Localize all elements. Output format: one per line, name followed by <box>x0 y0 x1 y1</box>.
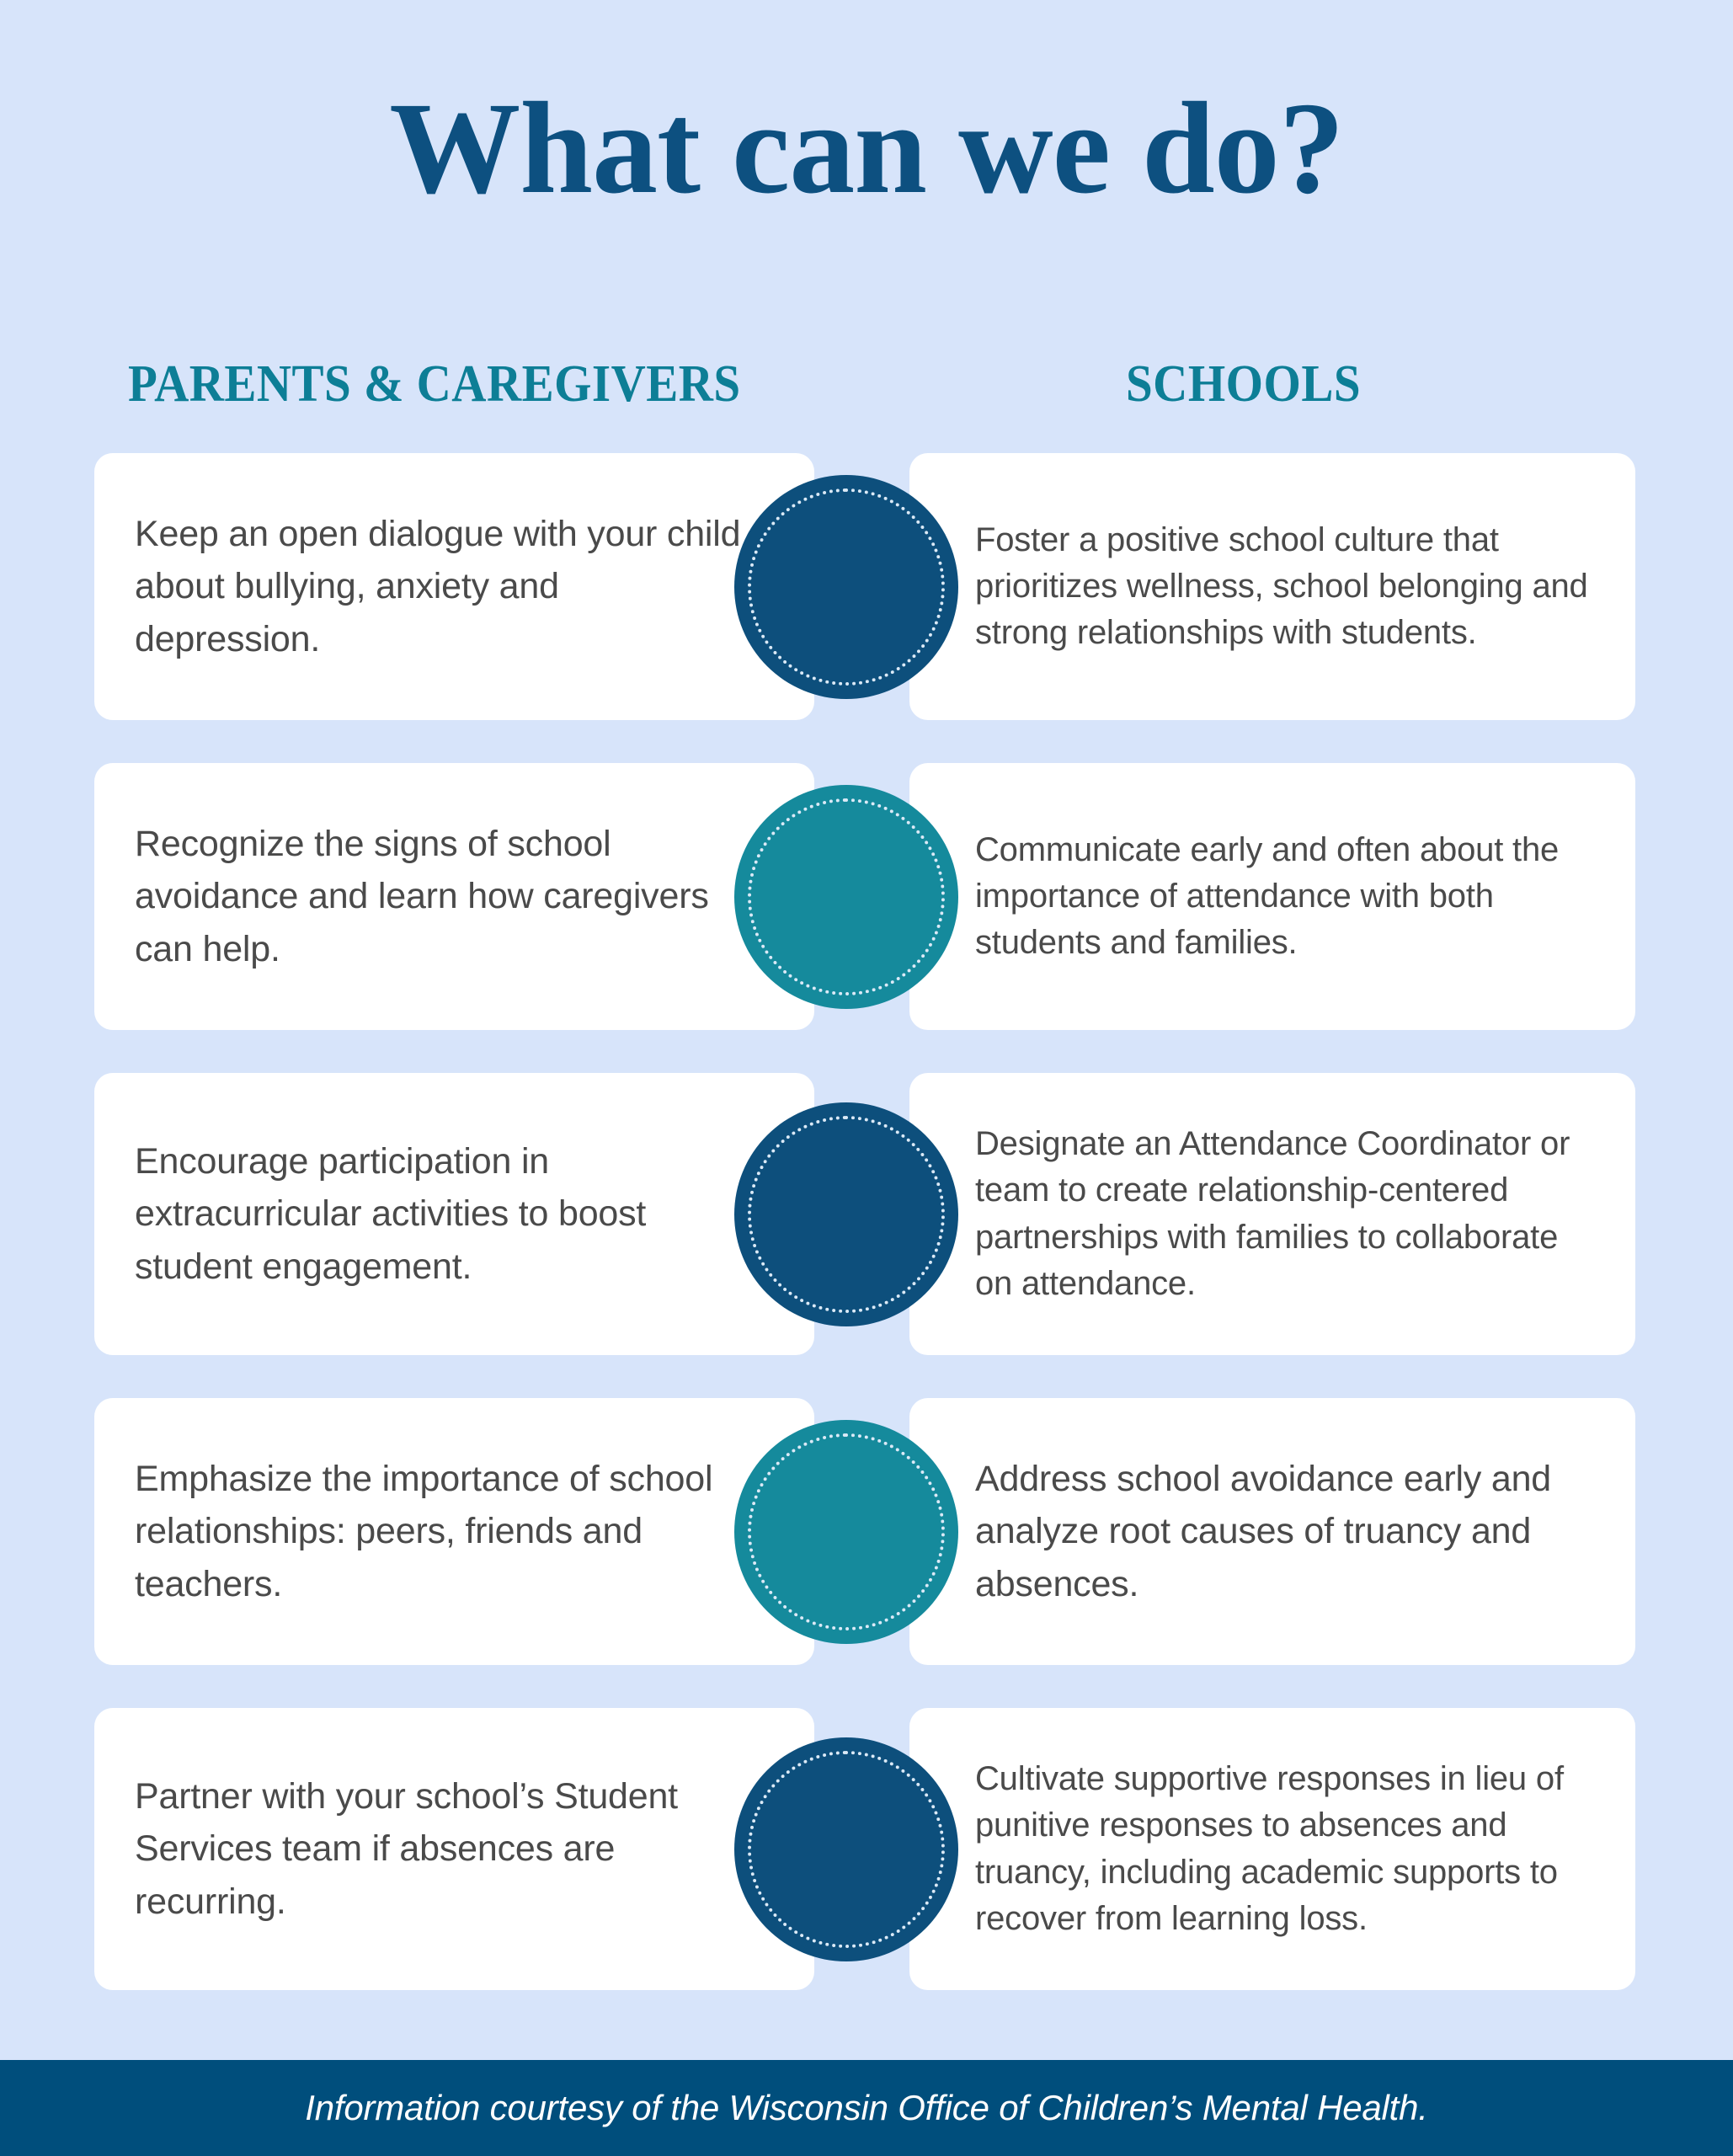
row-divider-circle-teal <box>734 1420 958 1644</box>
row-divider-circle-navy <box>734 1102 958 1326</box>
advice-rows: Keep an open dialogue with your child ab… <box>0 453 1733 2033</box>
dotted-ring-icon <box>748 1433 945 1630</box>
schools-advice-card[interactable]: Cultivate supportive responses in lieu o… <box>909 1708 1635 1990</box>
advice-row: Keep an open dialogue with your child ab… <box>0 453 1733 720</box>
footer-bar: Information courtesy of the Wisconsin Of… <box>0 2060 1733 2156</box>
schools-advice-card[interactable]: Foster a positive school culture that pr… <box>909 453 1635 720</box>
column-header-schools: SCHOOLS <box>1126 358 1361 410</box>
schools-advice-text: Address school avoidance early and analy… <box>975 1453 1600 1610</box>
parents-advice-text: Partner with your school’s Student Servi… <box>135 1770 749 1928</box>
advice-row: Recognize the signs of school avoidance … <box>0 763 1733 1030</box>
footer-attribution-text: Information courtesy of the Wisconsin Of… <box>305 2088 1428 2128</box>
row-divider-circle-teal <box>734 785 958 1009</box>
dotted-ring-icon <box>748 798 945 995</box>
parents-advice-card[interactable]: Recognize the signs of school avoidance … <box>94 763 814 1030</box>
page-title: What can we do? <box>0 79 1733 217</box>
parents-advice-card[interactable]: Partner with your school’s Student Servi… <box>94 1708 814 1990</box>
schools-advice-card[interactable]: Communicate early and often about the im… <box>909 763 1635 1030</box>
parents-advice-card[interactable]: Keep an open dialogue with your child ab… <box>94 453 814 720</box>
parents-advice-text: Encourage participation in extracurricul… <box>135 1135 749 1293</box>
schools-advice-card[interactable]: Address school avoidance early and analy… <box>909 1398 1635 1665</box>
advice-row: Encourage participation in extracurricul… <box>0 1073 1733 1355</box>
dotted-ring-icon <box>748 1116 945 1313</box>
dotted-ring-icon <box>748 488 945 686</box>
schools-advice-text: Communicate early and often about the im… <box>975 827 1600 967</box>
dotted-ring-icon <box>748 1751 945 1948</box>
schools-advice-card[interactable]: Designate an Attendance Coordinator or t… <box>909 1073 1635 1355</box>
row-divider-circle-navy <box>734 475 958 699</box>
advice-row: Partner with your school’s Student Servi… <box>0 1708 1733 1990</box>
schools-advice-text: Cultivate supportive responses in lieu o… <box>975 1756 1600 1942</box>
schools-advice-text: Foster a positive school culture that pr… <box>975 517 1600 657</box>
parents-advice-card[interactable]: Emphasize the importance of school relat… <box>94 1398 814 1665</box>
parents-advice-text: Keep an open dialogue with your child ab… <box>135 508 749 665</box>
parents-advice-card[interactable]: Encourage participation in extracurricul… <box>94 1073 814 1355</box>
advice-row: Emphasize the importance of school relat… <box>0 1398 1733 1665</box>
column-header-parents-caregivers: PARENTS & CAREGIVERS <box>128 358 741 410</box>
parents-advice-text: Emphasize the importance of school relat… <box>135 1453 749 1610</box>
parents-advice-text: Recognize the signs of school avoidance … <box>135 818 749 975</box>
schools-advice-text: Designate an Attendance Coordinator or t… <box>975 1121 1600 1307</box>
row-divider-circle-navy <box>734 1737 958 1961</box>
